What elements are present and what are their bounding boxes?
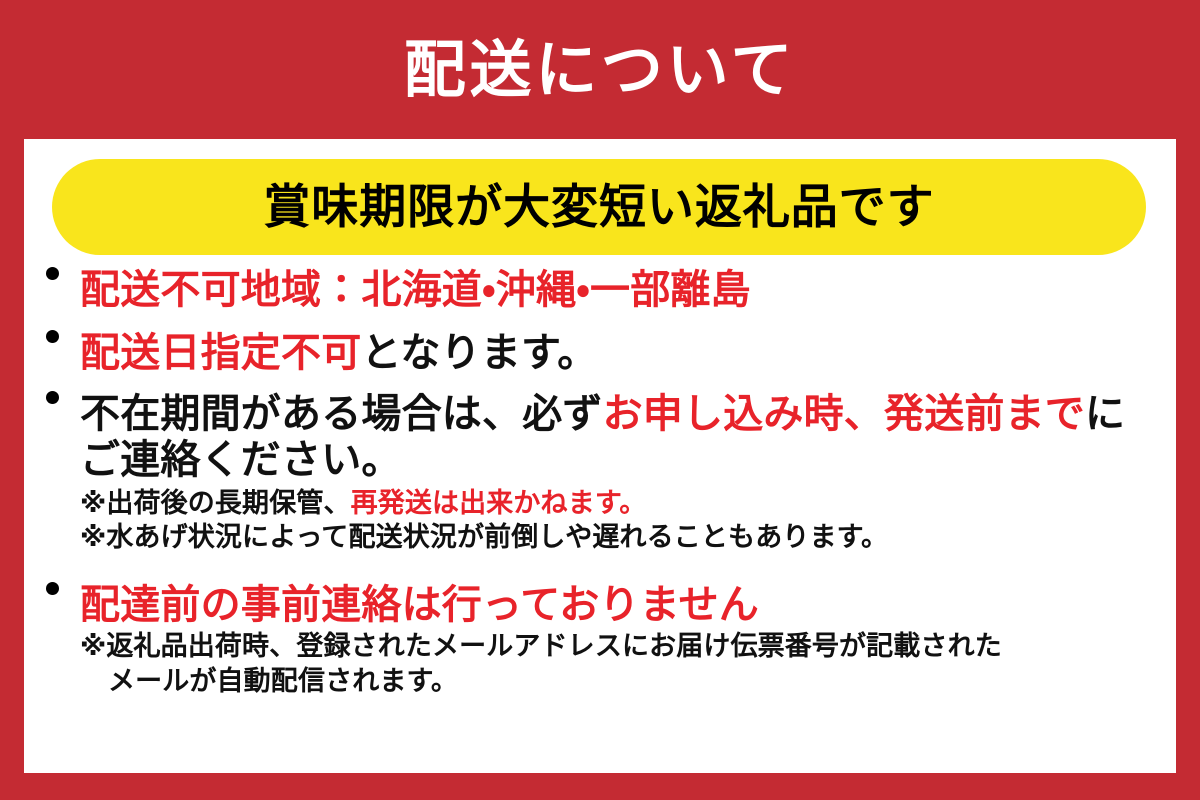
highlight-banner-text: 賞味期限が大変短い返礼品です xyxy=(263,184,934,231)
bullet-dot-icon xyxy=(46,267,59,280)
bullet-4-line: 配達前の事前連絡は行っておりません xyxy=(80,582,1176,628)
bullet-dot-icon xyxy=(46,582,59,595)
note-storage-text: ※出荷後の長期保管、 xyxy=(80,488,351,519)
no-delivery-areas-text: 配送不可地域：北海道・沖縄・一部離島 xyxy=(80,267,751,313)
spacer xyxy=(24,313,1176,330)
page-title: 配送について xyxy=(404,39,796,101)
note-harvest-text: ※水あげ状況によって配送状況が前倒しや遅れることもあります。 xyxy=(80,522,888,553)
no-advance-notice-text: 配達前の事前連絡は行っておりません xyxy=(80,582,759,628)
absence-period-contact-text: ご連絡ください。 xyxy=(80,437,402,483)
highlight-banner-wrap: 賞味期限が大変短い返礼品です xyxy=(52,159,1146,255)
note-email-notification-line-2: メールが自動配信されます。 xyxy=(24,665,1176,700)
shipping-info-banner: 配送について 賞味期限が大変短い返礼品です 配送不可地域：北海道・沖縄・一部離島 xyxy=(0,0,1200,800)
absence-period-prefix: 不在期間がある場合は、必ず xyxy=(80,391,603,437)
no-date-designation-text: 配送日指定不可 xyxy=(80,330,361,376)
spacer xyxy=(24,377,1176,391)
bullet-dot-icon xyxy=(46,391,59,404)
notice-list: 配送不可地域：北海道・沖縄・一部離島 配送日指定不可となります。 不在期間がある… xyxy=(24,267,1176,699)
absence-period-emphasis: お申し込み時、発送前まで xyxy=(603,391,1085,437)
note-email-notification-text-1: ※返礼品出荷時、登録されたメールアドレスにお届け伝票番号が記載された xyxy=(80,631,1002,662)
bullet-1-line: 配送不可地域：北海道・沖縄・一部離島 xyxy=(80,267,1176,313)
bullet-dot-icon xyxy=(46,330,59,343)
note-email-notification-text-2: メールが自動配信されます。 xyxy=(108,666,458,697)
no-date-designation-suffix: となります。 xyxy=(361,330,597,376)
content-panel: 賞味期限が大変短い返礼品です 配送不可地域：北海道・沖縄・一部離島 配送日指定不… xyxy=(24,139,1176,773)
note-email-notification-line-1: ※返礼品出荷時、登録されたメールアドレスにお届け伝票番号が記載された xyxy=(24,630,1176,665)
note-storage-reshipment: ※出荷後の長期保管、再発送は出来かねます。 xyxy=(24,487,1176,522)
list-item: 配送日指定不可となります。 xyxy=(24,330,1176,376)
bullet-3-line-1: 不在期間がある場合は、必ずお申し込み時、発送前までに xyxy=(80,391,1176,437)
highlight-banner: 賞味期限が大変短い返礼品です xyxy=(52,159,1146,255)
list-item: 配送不可地域：北海道・沖縄・一部離島 xyxy=(24,267,1176,313)
list-item: 配達前の事前連絡は行っておりません xyxy=(24,582,1176,628)
banner-header: 配送について xyxy=(0,0,1200,139)
bullet-3-line-2: ご連絡ください。 xyxy=(80,437,1176,483)
spacer xyxy=(24,556,1176,582)
note-harvest-schedule: ※水あげ状況によって配送状況が前倒しや遅れることもあります。 xyxy=(24,521,1176,556)
list-item: 不在期間がある場合は、必ずお申し込み時、発送前までに ご連絡ください。 xyxy=(24,391,1176,484)
absence-period-particle: に xyxy=(1085,391,1125,437)
note-reshipment-text: 再発送は出来かねます。 xyxy=(351,488,647,519)
bullet-2-line: 配送日指定不可となります。 xyxy=(80,330,1176,376)
